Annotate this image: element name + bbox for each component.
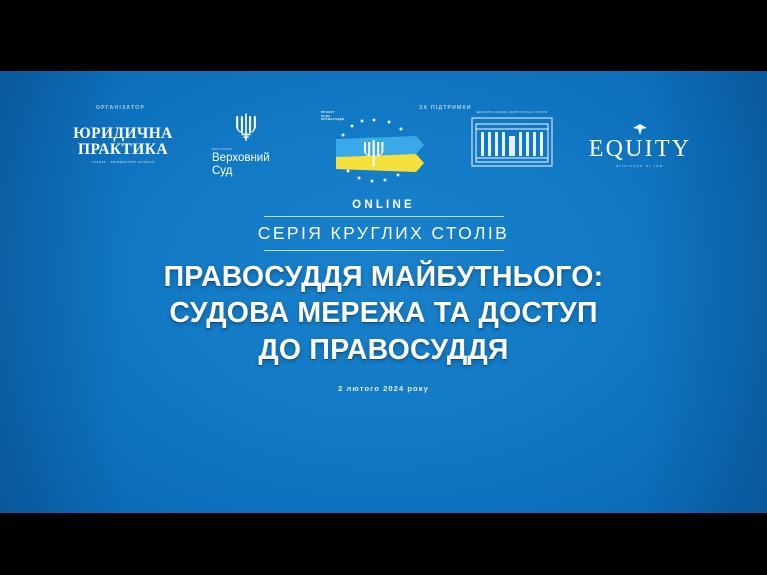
logo-judicial-reform-micro: ПРОЄКТ РАДА ПРАВОСУДДЯ xyxy=(321,111,345,122)
logo-jurydychna-praktyka-line2: ПРАКТИКА xyxy=(62,142,184,158)
logo-supreme-court-line2: Суд xyxy=(206,165,286,178)
series-divider-top xyxy=(264,216,504,217)
organizer-label: ОРГАНІЗАТОР xyxy=(96,105,145,111)
slide-canvas: ОРГАНІЗАТОР ЗА ПІДТРИМКИ ЮРИДИЧНА ПРАКТИ… xyxy=(0,71,767,513)
title-line-3: ДО ПРАВОСУДДЯ xyxy=(0,332,767,368)
logo-judicial-reform-flag: ПРОЄКТ РАДА ПРАВОСУДДЯ xyxy=(312,107,436,191)
title-line-2: СУДОВА МЕРЕЖА ТА ДОСТУП xyxy=(0,295,767,331)
logo-jurydychna-praktyka-line1: ЮРИДИЧНА xyxy=(62,126,184,142)
letterbox-bar-bottom xyxy=(0,513,767,575)
bird-mark-icon xyxy=(629,123,651,136)
logo-supreme-court: ВЕРХОВНИЙ Верховний Суд xyxy=(206,113,286,178)
logo-band: ОРГАНІЗАТОР ЗА ПІДТРИМКИ ЮРИДИЧНА ПРАКТИ… xyxy=(0,97,767,193)
trident-icon xyxy=(235,113,257,141)
event-date: 2 лютого 2024 року xyxy=(0,384,767,393)
logo-equity: EQUITY attorneys at law xyxy=(585,123,695,168)
video-title-card: ОРГАНІЗАТОР ЗА ПІДТРИМКИ ЮРИДИЧНА ПРАКТИ… xyxy=(0,0,767,575)
page-title: ПРАВОСУДДЯ МАЙБУТНЬОГО: СУДОВА МЕРЕЖА ТА… xyxy=(0,259,767,368)
title-line-1: ПРАВОСУДДЯ МАЙБУТНЬОГО: xyxy=(0,259,767,295)
logo-equity-title: EQUITY xyxy=(585,137,695,161)
logo-jurydychna-praktyka-subtitle: ГАЗЕТА · ЮРИДИЧНИЙ ЖУРНАЛ xyxy=(62,160,184,164)
series-online-label: ONLINE xyxy=(0,199,767,211)
series-block: ONLINE СЕРІЯ КРУГЛИХ СТОЛІВ xyxy=(0,199,767,251)
logo-institution-micro: ДЕРЖАВНА СУДОВА АДМІНІСТРАЦІЯ УКРАЇНИ xyxy=(463,111,561,114)
logo-institution: ДЕРЖАВНА СУДОВА АДМІНІСТРАЦІЯ УКРАЇНИ xyxy=(463,111,561,173)
letterbox-bar-top xyxy=(0,0,767,71)
logo-flag-micro-line3: ПРАВОСУДДЯ xyxy=(321,118,345,122)
logo-jurydychna-praktyka: ЮРИДИЧНА ПРАКТИКА ГАЗЕТА · ЮРИДИЧНИЙ ЖУР… xyxy=(62,126,184,164)
logo-supreme-court-line1: Верховний xyxy=(206,152,286,165)
courthouse-building-icon xyxy=(470,116,554,168)
logo-equity-subtitle: attorneys at law xyxy=(585,164,695,168)
logo-supreme-court-micro: ВЕРХОВНИЙ xyxy=(206,148,286,151)
series-divider-bottom xyxy=(264,250,504,251)
series-subtitle: СЕРІЯ КРУГЛИХ СТОЛІВ xyxy=(0,223,767,244)
